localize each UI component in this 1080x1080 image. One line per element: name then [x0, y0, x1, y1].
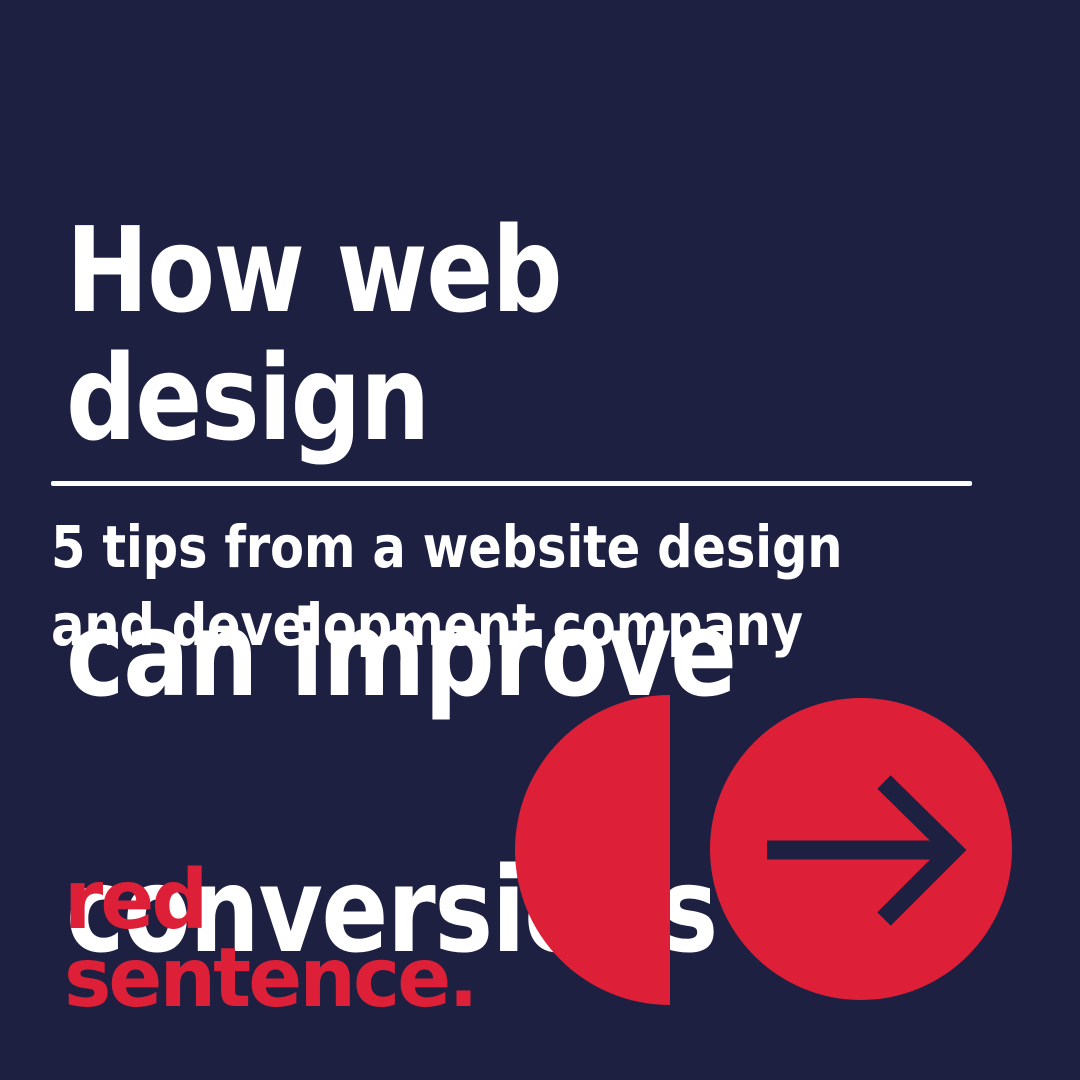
- brand-logo-line-1: red: [64, 862, 476, 940]
- subtitle: 5 tips from a website design and develop…: [51, 508, 887, 664]
- social-post-canvas: How web design can improve conversions 5…: [0, 0, 1080, 1080]
- subtitle-line-1: 5 tips from a website design: [51, 508, 887, 586]
- half-circle-icon: [515, 695, 670, 1005]
- brand-logo-line-2: sentence.: [64, 940, 476, 1018]
- brand-logo: red sentence.: [64, 862, 488, 1018]
- arrow-circle-icon: [710, 698, 1012, 1000]
- divider: [51, 481, 972, 486]
- decorative-graphic: [500, 670, 1040, 1030]
- headline-line-1: How web design: [66, 206, 940, 462]
- subtitle-line-2: and development company: [51, 586, 887, 664]
